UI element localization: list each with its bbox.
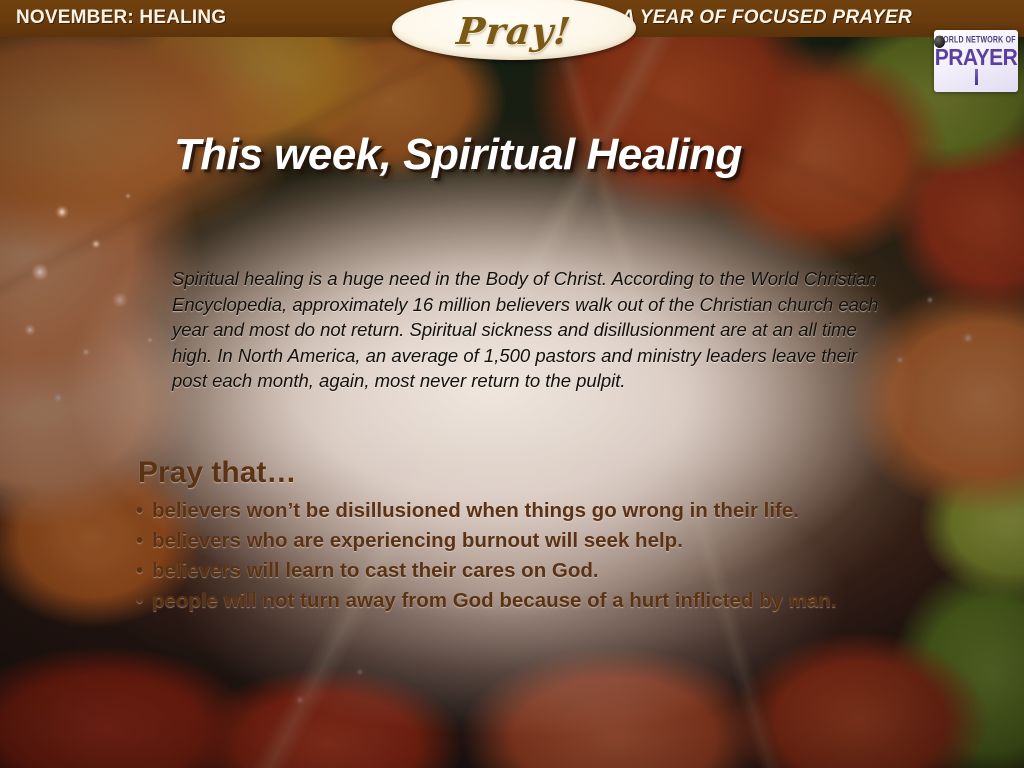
list-item: believers will learn to cast their cares… <box>136 556 916 585</box>
globe-icon <box>934 36 945 48</box>
list-item: believers won’t be disillusioned when th… <box>136 496 916 525</box>
prayer-points-heading: Pray that… <box>138 456 296 490</box>
prayer-points-list: believers won’t be disillusioned when th… <box>136 496 916 616</box>
body-paragraph: Spiritual healing is a huge need in the … <box>172 266 884 394</box>
pray-logo-text: Pray! <box>455 13 573 50</box>
wnop-figure-icon <box>975 69 978 85</box>
month-theme-label: NOVEMBER: HEALING <box>16 7 226 29</box>
wnop-logo-line2: PRAYER <box>935 46 1018 70</box>
slide-title: This week, Spiritual Healing <box>174 130 742 180</box>
world-network-of-prayer-logo: WORLD NETWORK OF PRAYER <box>934 30 1018 92</box>
list-item: believers who are experiencing burnout w… <box>136 526 916 555</box>
wnop-logo-line1: WORLD NETWORK OF <box>936 36 1015 45</box>
list-item: people will not turn away from God becau… <box>136 586 916 615</box>
campaign-tagline: A YEAR OF FOCUSED PRAYER <box>621 7 912 29</box>
presentation-slide: NOVEMBER: HEALING A YEAR OF FOCUSED PRAY… <box>0 0 1024 768</box>
